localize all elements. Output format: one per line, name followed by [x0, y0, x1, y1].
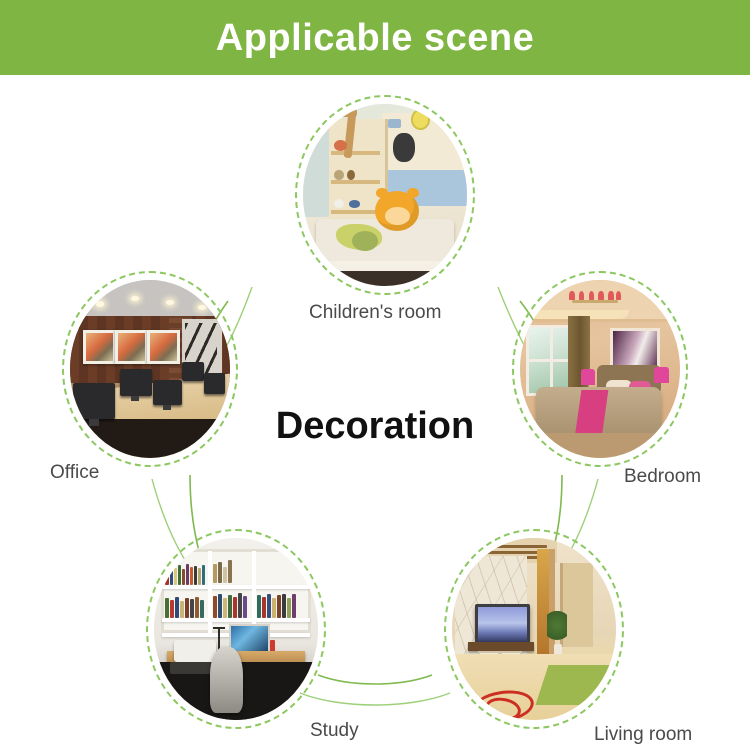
applicable-scene-infographic: Applicable scene: [0, 0, 750, 750]
center-caption: Decoration: [0, 407, 750, 445]
node-label-bedroom: Bedroom: [624, 467, 701, 486]
node-study[interactable]: Study: [146, 529, 326, 729]
header-banner: Applicable scene: [0, 0, 750, 75]
photo-study: [154, 538, 318, 720]
node-label-childrens-room: Children's room: [309, 303, 441, 322]
arc-study-living: [318, 675, 432, 684]
node-living-room[interactable]: Living room: [444, 529, 624, 729]
node-label-study: Study: [310, 721, 359, 740]
node-label-office: Office: [50, 463, 99, 482]
node-childrens-room[interactable]: Children's room: [295, 95, 475, 295]
node-label-living-room: Living room: [594, 725, 692, 744]
photo-childrens-room: [303, 104, 467, 286]
scene-diagram: Children's room: [0, 75, 750, 750]
page-title: Applicable scene: [216, 19, 534, 57]
photo-living-room: [452, 538, 616, 720]
